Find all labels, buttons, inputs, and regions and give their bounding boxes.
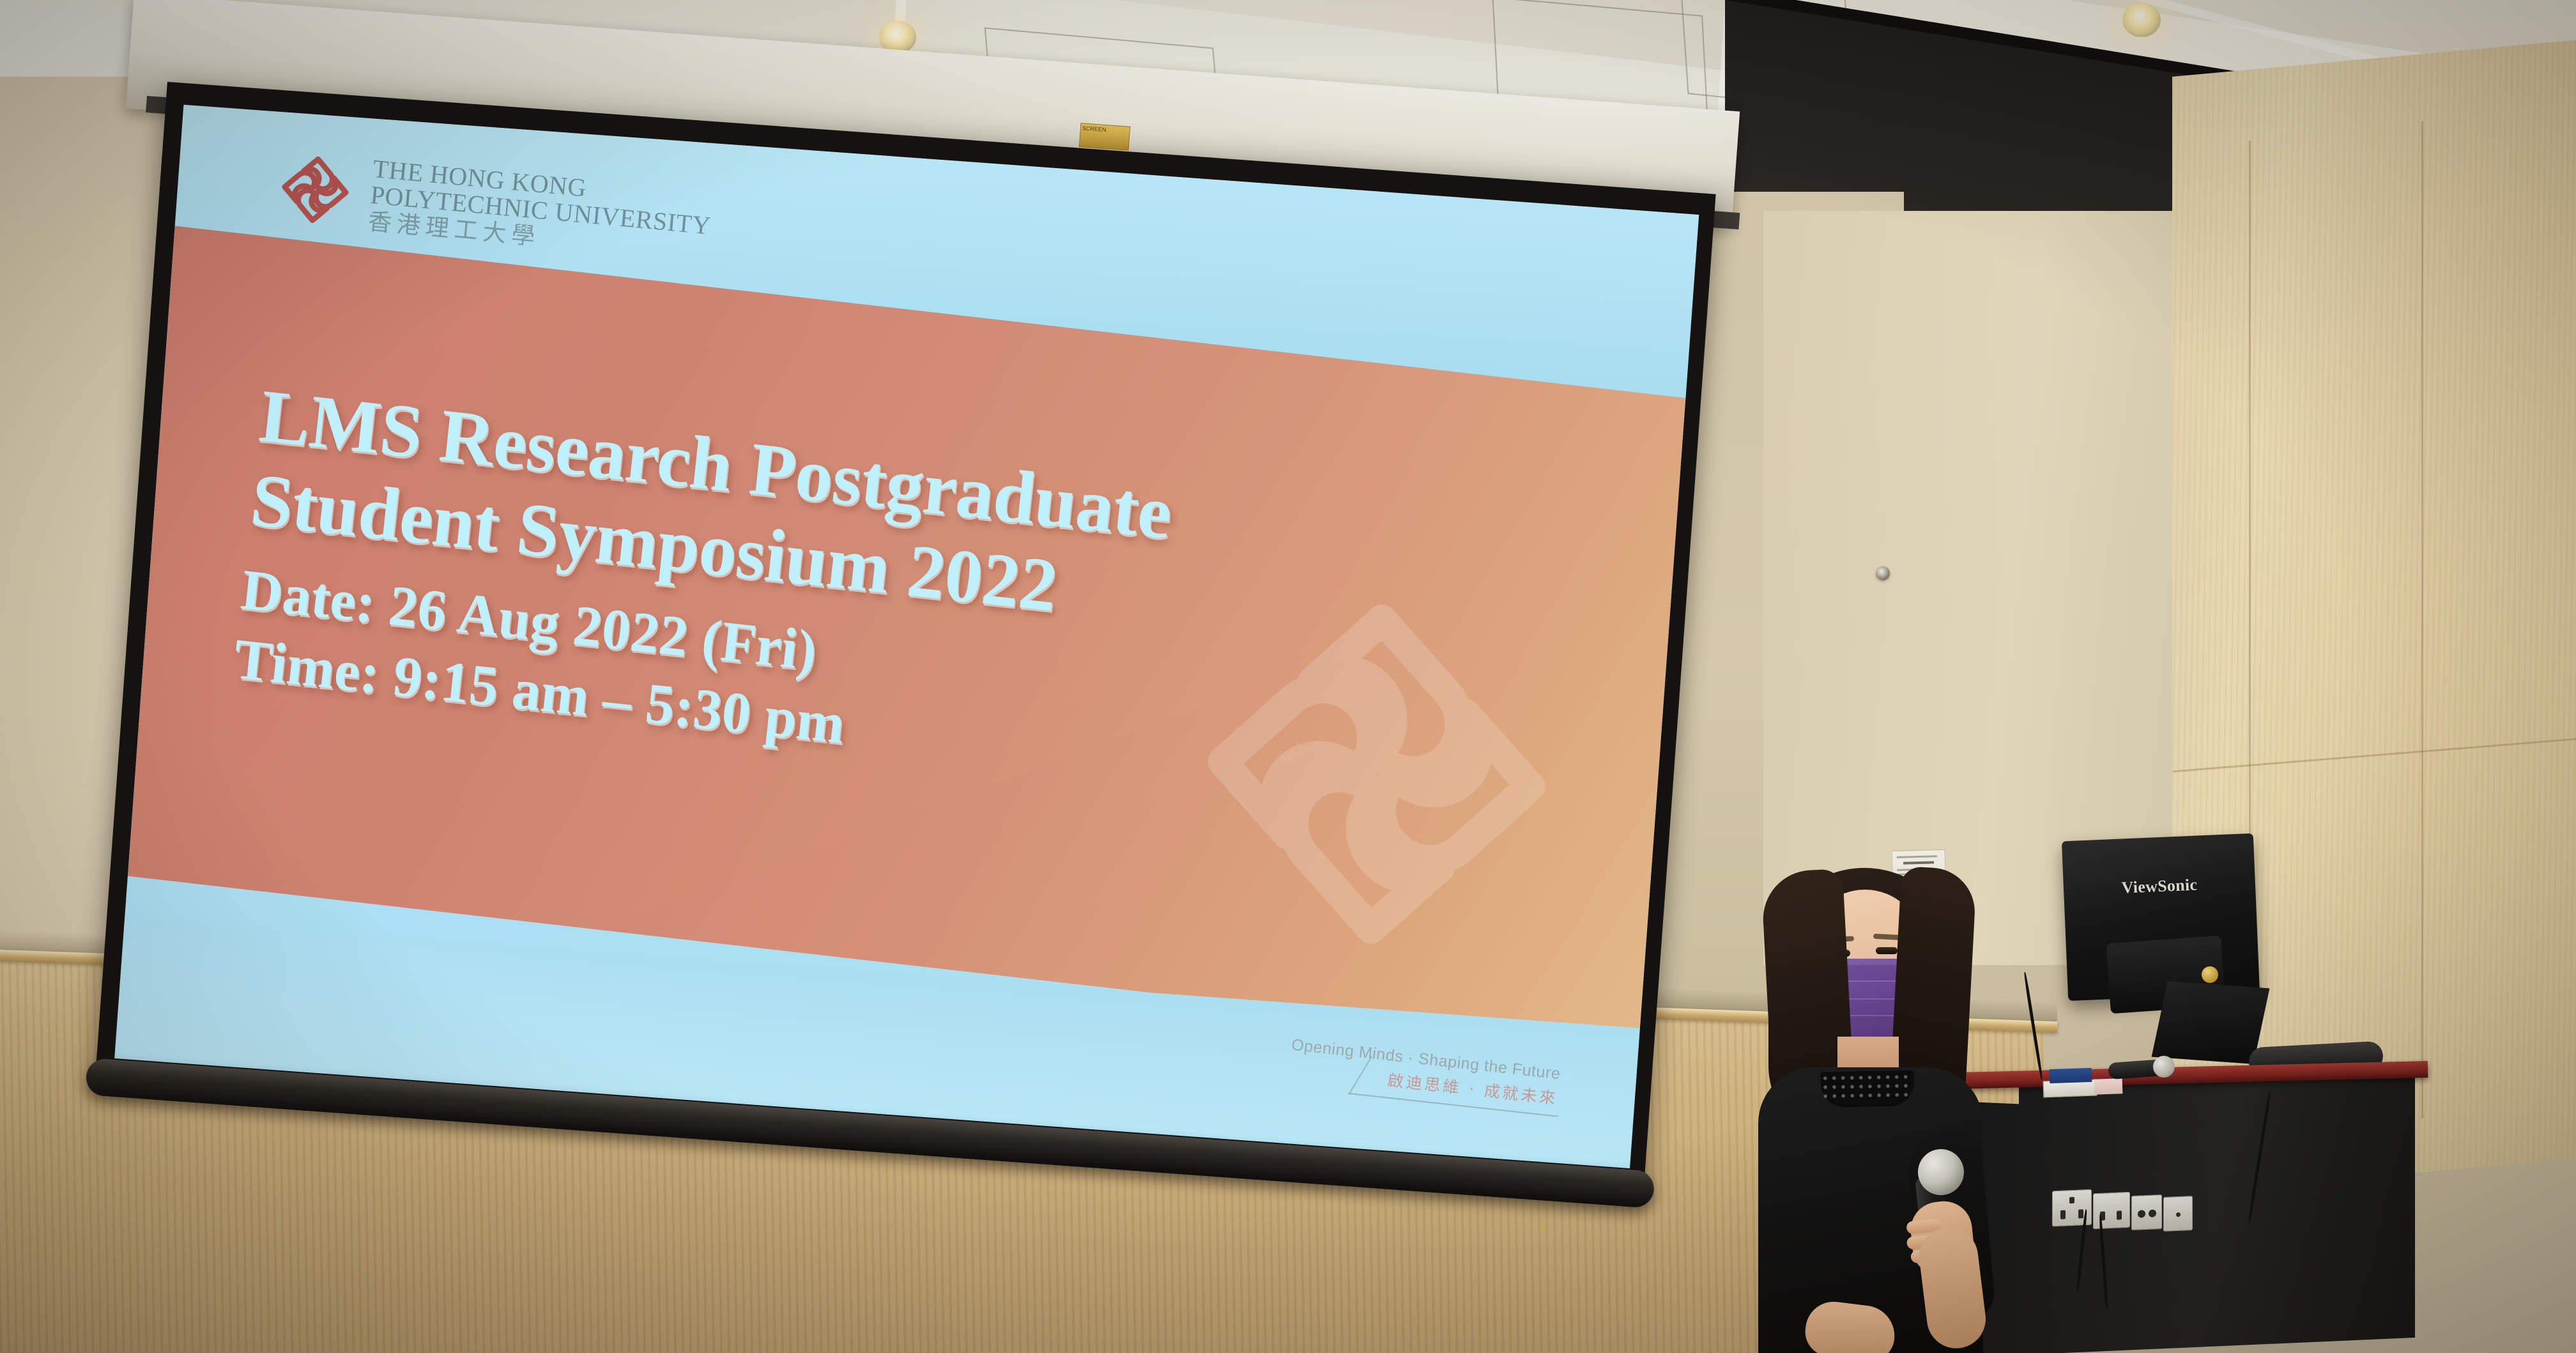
presenter <box>1712 856 2044 1353</box>
wall-sensor-icon <box>1876 566 1890 580</box>
presenter-collar-studs <box>1822 1073 1913 1102</box>
projection-screen: The Hong Kong Polytechnic University 香港理… <box>95 82 1716 1189</box>
desk-box-blue <box>2050 1068 2092 1083</box>
screen-label-plate: SCREEN <box>1079 123 1131 151</box>
presenter-eye <box>1876 947 1897 954</box>
monitor-brand-label: ViewSonic <box>2063 873 2255 901</box>
monitor-mount-knob <box>2202 966 2218 983</box>
light-switch-plate[interactable] <box>2163 1196 2193 1232</box>
ceiling-downlight <box>2122 3 2161 37</box>
polyu-knot-icon <box>270 144 360 235</box>
av-port-plate[interactable] <box>2131 1195 2162 1230</box>
wood-panel-seam <box>2421 121 2423 1118</box>
power-socket[interactable] <box>2093 1192 2130 1230</box>
desk-box-pink <box>2094 1078 2123 1095</box>
scene-photo: SCREEN <box>0 0 2576 1353</box>
projected-slide: The Hong Kong Polytechnic University 香港理… <box>114 105 1699 1168</box>
